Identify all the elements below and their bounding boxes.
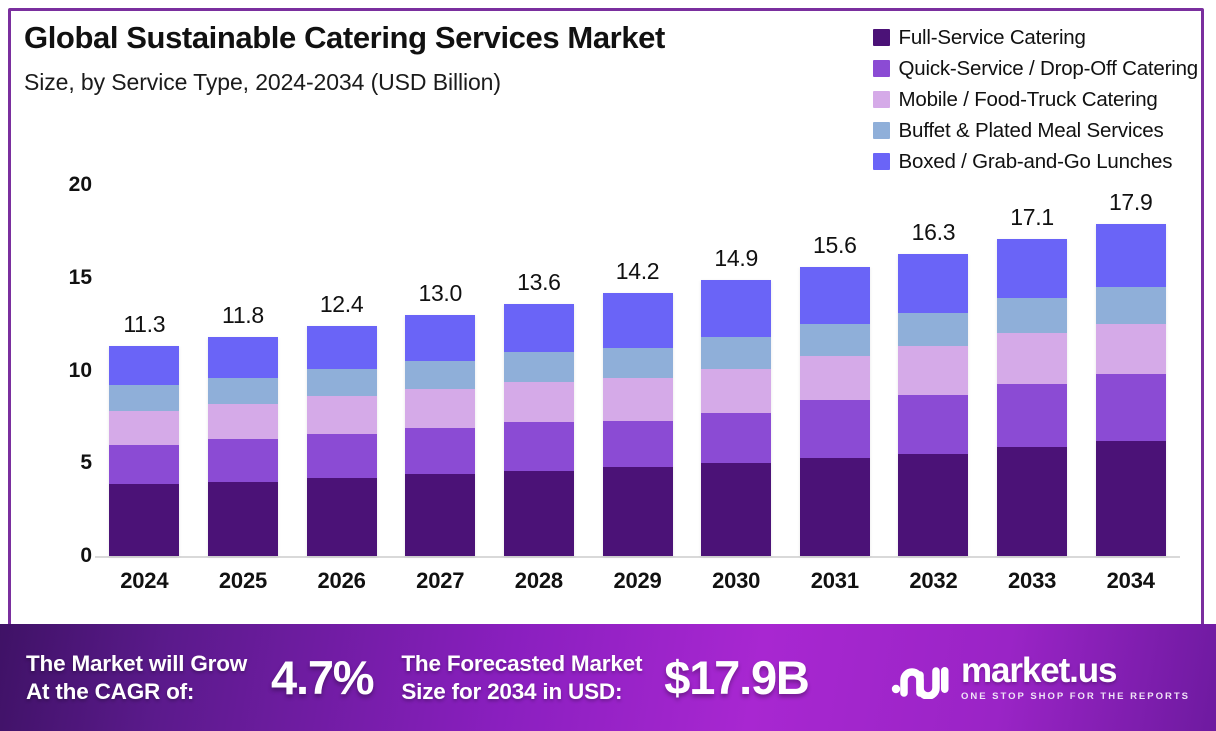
bar-segment[interactable] (800, 356, 870, 401)
bar-segment[interactable] (504, 471, 574, 556)
bar-value-label: 11.3 (95, 311, 194, 338)
bar-segment[interactable] (800, 458, 870, 556)
x-axis-category-label: 2029 (588, 568, 687, 608)
bar-segment[interactable] (898, 395, 968, 454)
bar-segment[interactable] (208, 439, 278, 482)
stacked-bar[interactable] (997, 239, 1067, 556)
y-axis-tick-label: 15 (69, 266, 92, 290)
bar-segment[interactable] (504, 352, 574, 382)
bar-segment[interactable] (603, 293, 673, 349)
x-axis-category-label: 2027 (391, 568, 490, 608)
stacked-bar[interactable] (109, 346, 179, 556)
bar-segment[interactable] (307, 478, 377, 556)
bar-segment[interactable] (603, 378, 673, 421)
infographic-root: Global Sustainable Catering Services Mar… (0, 0, 1216, 731)
bar-segment[interactable] (405, 428, 475, 474)
bar-segment[interactable] (109, 346, 179, 385)
bar-segment[interactable] (997, 333, 1067, 383)
bar-segment[interactable] (701, 369, 771, 414)
bar-segment[interactable] (603, 421, 673, 467)
bar-segment[interactable] (208, 378, 278, 404)
bar-segment[interactable] (405, 361, 475, 389)
bar-segment[interactable] (603, 348, 673, 378)
bar-segment[interactable] (701, 463, 771, 556)
bar-value-label: 13.6 (490, 269, 589, 296)
bar-segment[interactable] (898, 454, 968, 556)
x-axis-category-label: 2024 (95, 568, 194, 608)
bar-segment[interactable] (504, 382, 574, 423)
forecast-label-line2: Size for 2034 in USD: (401, 679, 622, 704)
bar-segment[interactable] (307, 326, 377, 369)
bar-segment[interactable] (603, 467, 673, 556)
stacked-bar[interactable] (208, 337, 278, 556)
bar-column[interactable]: 17.9 (1081, 185, 1180, 556)
stacked-bar[interactable] (898, 254, 968, 556)
bar-column[interactable]: 17.1 (983, 185, 1082, 556)
y-axis-tick-label: 5 (80, 451, 92, 475)
bar-segment[interactable] (997, 239, 1067, 298)
bar-segment[interactable] (997, 384, 1067, 447)
cagr-label-line1: The Market will Grow (26, 651, 247, 676)
bar-segment[interactable] (405, 389, 475, 428)
bar-segment[interactable] (898, 254, 968, 313)
cagr-block: The Market will Grow At the CAGR of: 4.7… (26, 650, 373, 705)
bar-segment[interactable] (307, 434, 377, 479)
forecast-label-line1: The Forecasted Market (401, 651, 642, 676)
bar-segment[interactable] (405, 474, 475, 556)
brand-tagline: ONE STOP SHOP FOR THE REPORTS (961, 691, 1190, 702)
x-axis-category-label: 2028 (490, 568, 589, 608)
stacked-bar[interactable] (1096, 224, 1166, 556)
stacked-bar[interactable] (800, 267, 870, 556)
summary-banner: The Market will Grow At the CAGR of: 4.7… (0, 624, 1216, 731)
x-axis-category-label: 2034 (1081, 568, 1180, 608)
x-axis-line (95, 556, 1180, 558)
stacked-bar[interactable] (603, 293, 673, 556)
bar-column[interactable]: 15.6 (785, 185, 884, 556)
cagr-label: The Market will Grow At the CAGR of: (26, 650, 247, 705)
forecast-value: $17.9B (664, 650, 808, 705)
y-axis: 05101520 (40, 185, 92, 565)
bar-segment[interactable] (109, 385, 179, 411)
market-us-logo-icon (891, 657, 949, 699)
x-axis-category-label: 2032 (884, 568, 983, 608)
bar-segment[interactable] (701, 413, 771, 463)
bar-segment[interactable] (701, 337, 771, 369)
bar-group: 11.311.812.413.013.614.214.915.616.317.1… (95, 185, 1180, 556)
bar-segment[interactable] (898, 313, 968, 346)
y-axis-tick-label: 0 (80, 544, 92, 568)
bar-value-label: 13.0 (391, 280, 490, 307)
bar-segment[interactable] (307, 369, 377, 397)
bar-segment[interactable] (307, 396, 377, 433)
x-axis-category-label: 2031 (785, 568, 884, 608)
brand-logo[interactable]: market.us ONE STOP SHOP FOR THE REPORTS (891, 653, 1190, 702)
bar-segment[interactable] (109, 411, 179, 444)
bar-column[interactable]: 14.9 (687, 185, 786, 556)
stacked-bar[interactable] (307, 326, 377, 556)
bar-value-label: 16.3 (884, 219, 983, 246)
x-axis-category-label: 2030 (687, 568, 786, 608)
bar-value-label: 11.8 (194, 302, 293, 329)
bar-segment[interactable] (800, 324, 870, 356)
bar-column[interactable]: 13.0 (391, 185, 490, 556)
y-axis-tick-label: 10 (69, 359, 92, 383)
bar-value-label: 17.1 (983, 204, 1082, 231)
bar-segment[interactable] (997, 447, 1067, 556)
bar-value-label: 12.4 (292, 291, 391, 318)
bar-segment[interactable] (504, 422, 574, 470)
bar-segment[interactable] (1096, 324, 1166, 374)
brand-name: market.us (961, 653, 1190, 688)
x-axis-category-label: 2026 (292, 568, 391, 608)
bar-value-label: 14.9 (687, 245, 786, 272)
bar-column[interactable]: 13.6 (490, 185, 589, 556)
bar-segment[interactable] (208, 404, 278, 439)
forecast-block: The Forecasted Market Size for 2034 in U… (401, 650, 808, 705)
bar-segment[interactable] (997, 298, 1067, 333)
bar-segment[interactable] (109, 445, 179, 484)
bar-column[interactable]: 14.2 (588, 185, 687, 556)
bar-segment[interactable] (1096, 441, 1166, 556)
y-axis-tick-label: 20 (69, 173, 92, 197)
stacked-bar[interactable] (504, 304, 574, 556)
bar-segment[interactable] (208, 337, 278, 378)
bar-segment[interactable] (1096, 287, 1166, 324)
bar-column[interactable]: 11.8 (194, 185, 293, 556)
bar-segment[interactable] (701, 280, 771, 338)
stacked-bar[interactable] (405, 315, 475, 556)
chart-plot-area: 05101520 11.311.812.413.013.614.214.915.… (0, 0, 1216, 620)
brand-text: market.us ONE STOP SHOP FOR THE REPORTS (961, 653, 1190, 702)
bar-segment[interactable] (504, 304, 574, 352)
bar-segment[interactable] (405, 315, 475, 361)
bar-segment[interactable] (109, 484, 179, 556)
bar-segment[interactable] (800, 400, 870, 458)
bar-column[interactable]: 12.4 (292, 185, 391, 556)
cagr-value: 4.7% (271, 650, 373, 705)
bar-column[interactable]: 16.3 (884, 185, 983, 556)
x-axis-category-label: 2025 (194, 568, 293, 608)
x-axis-category-label: 2033 (983, 568, 1082, 608)
bar-segment[interactable] (1096, 374, 1166, 441)
bar-column[interactable]: 11.3 (95, 185, 194, 556)
bar-segment[interactable] (800, 267, 870, 325)
bar-value-label: 17.9 (1081, 189, 1180, 216)
bar-segment[interactable] (208, 482, 278, 556)
bar-segment[interactable] (1096, 224, 1166, 287)
x-axis-labels: 2024202520262027202820292030203120322033… (95, 568, 1180, 608)
bar-segment[interactable] (898, 346, 968, 394)
forecast-label: The Forecasted Market Size for 2034 in U… (401, 650, 642, 705)
stacked-bar[interactable] (701, 280, 771, 556)
bar-value-label: 14.2 (588, 258, 687, 285)
bar-value-label: 15.6 (785, 232, 884, 259)
cagr-label-line2: At the CAGR of: (26, 679, 194, 704)
